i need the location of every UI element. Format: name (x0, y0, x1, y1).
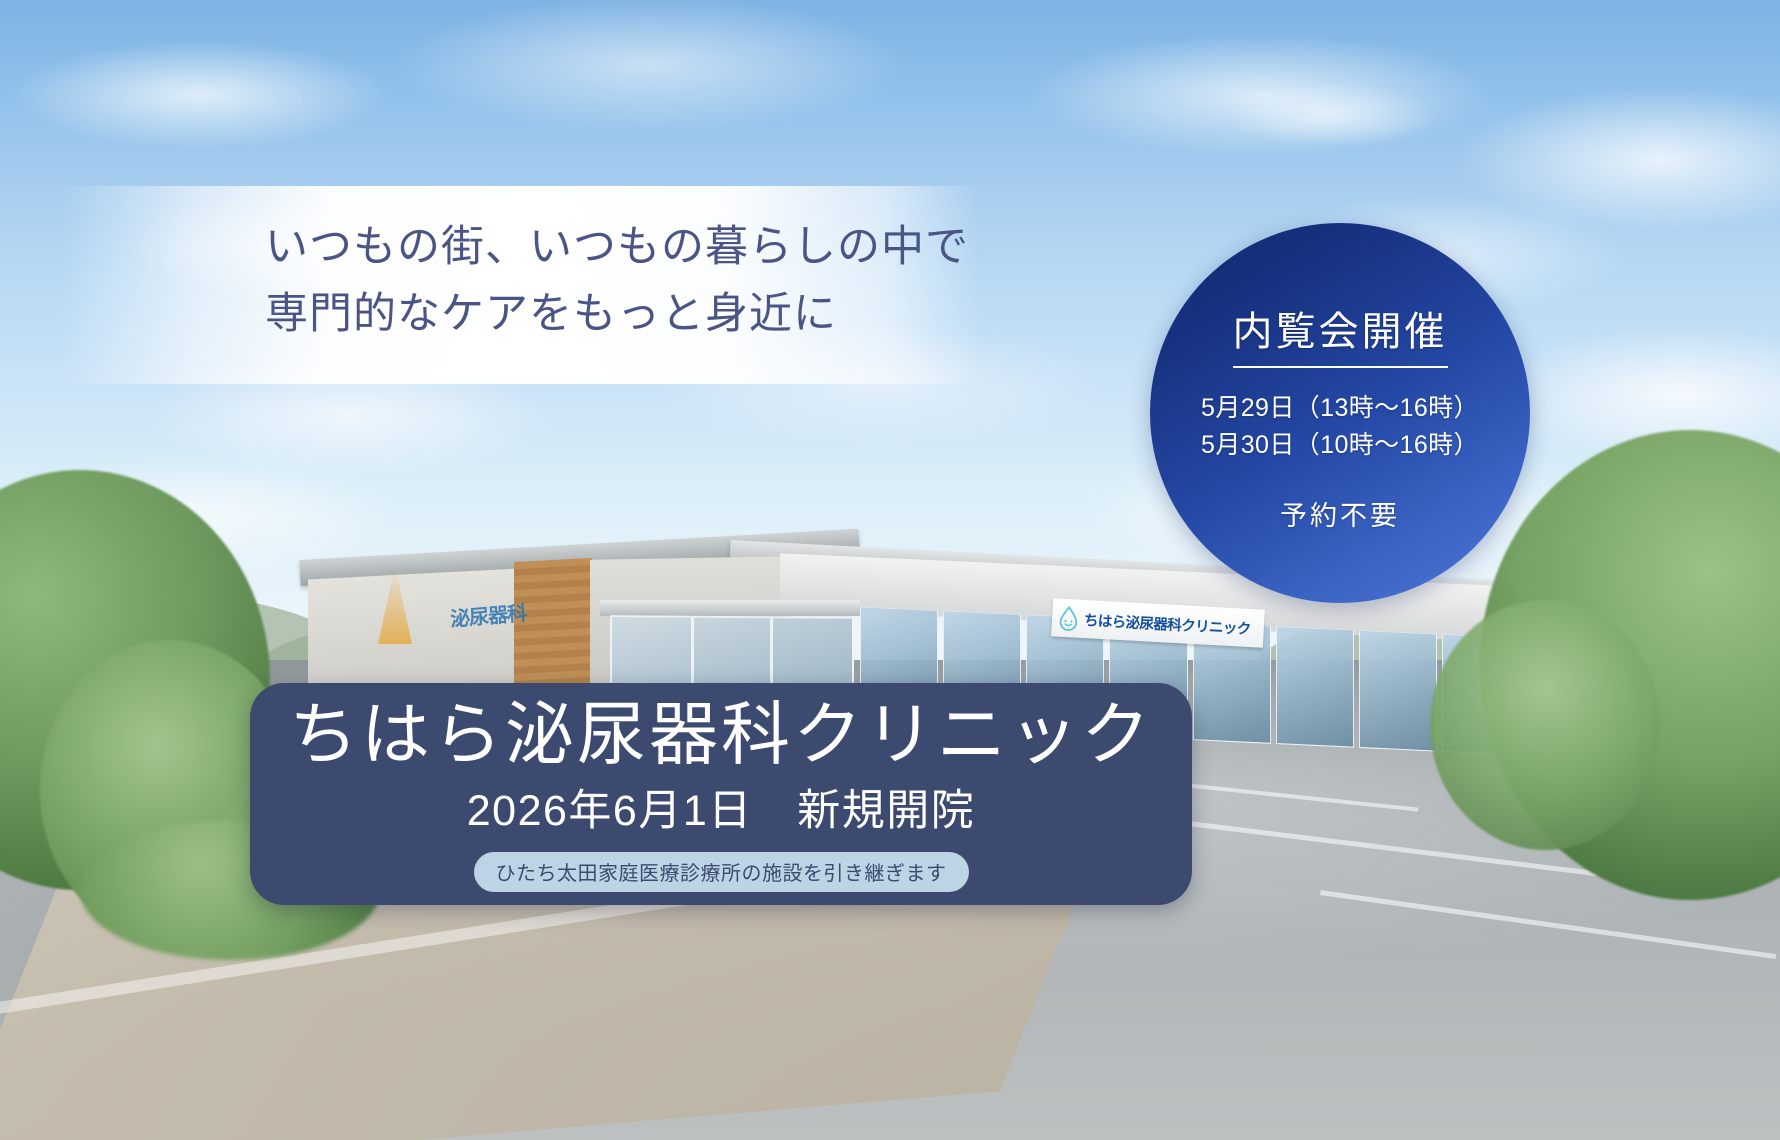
wood-accent-wall (514, 558, 592, 702)
clinic-name: ちはら泌尿器科クリニック (250, 695, 1192, 774)
opening-date: 2026年6月1日 新規開院 (250, 776, 1192, 838)
succession-badge: ひたち太田家庭医療診療所の施設を引き継ぎます (474, 852, 969, 892)
tagline-line-2: 専門的なケアをもっと身近に (265, 281, 969, 348)
entrance-awning (600, 600, 860, 616)
cloud-shape (300, 0, 1000, 160)
open-house-date-1: 5月29日（13時～16時） (1201, 390, 1479, 427)
hero-banner: 泌尿器科 ちはら泌尿器科クリニック (0, 0, 1780, 1140)
tagline-text-group: いつもの街、いつもの暮らしの中で 専門的なケアをもっと身近に (265, 214, 969, 347)
window-pane (1359, 630, 1437, 752)
cloud-shape (940, 10, 1580, 180)
tagline-line-1: いつもの街、いつもの暮らしの中で (265, 214, 969, 281)
open-house-title: 内覧会開催 (1233, 299, 1448, 368)
cloud-shape (1180, 70, 1480, 160)
clinic-name-panel: ちはら泌尿器科クリニック 2026年6月1日 新規開院 ひたち太田家庭医療診療所… (250, 683, 1192, 905)
cloud-shape (0, 20, 460, 170)
water-drop-smile-icon (1057, 605, 1079, 631)
window-pane (1276, 626, 1354, 748)
cloud-shape (1380, 60, 1780, 260)
open-house-date-2: 5月30日（10時～16時） (1201, 427, 1479, 464)
building-wall (308, 568, 518, 699)
tagline-panel: いつもの街、いつもの暮らしの中で 専門的なケアをもっと身近に (60, 186, 980, 384)
open-house-note: 予約不要 (1280, 494, 1400, 533)
tree-right-small (1430, 600, 1660, 850)
open-house-badge: 内覧会開催 5月29日（13時～16時） 5月30日（10時～16時） 予約不要 (1150, 223, 1530, 603)
signboard-text: ちはら泌尿器科クリニック (1084, 609, 1252, 639)
